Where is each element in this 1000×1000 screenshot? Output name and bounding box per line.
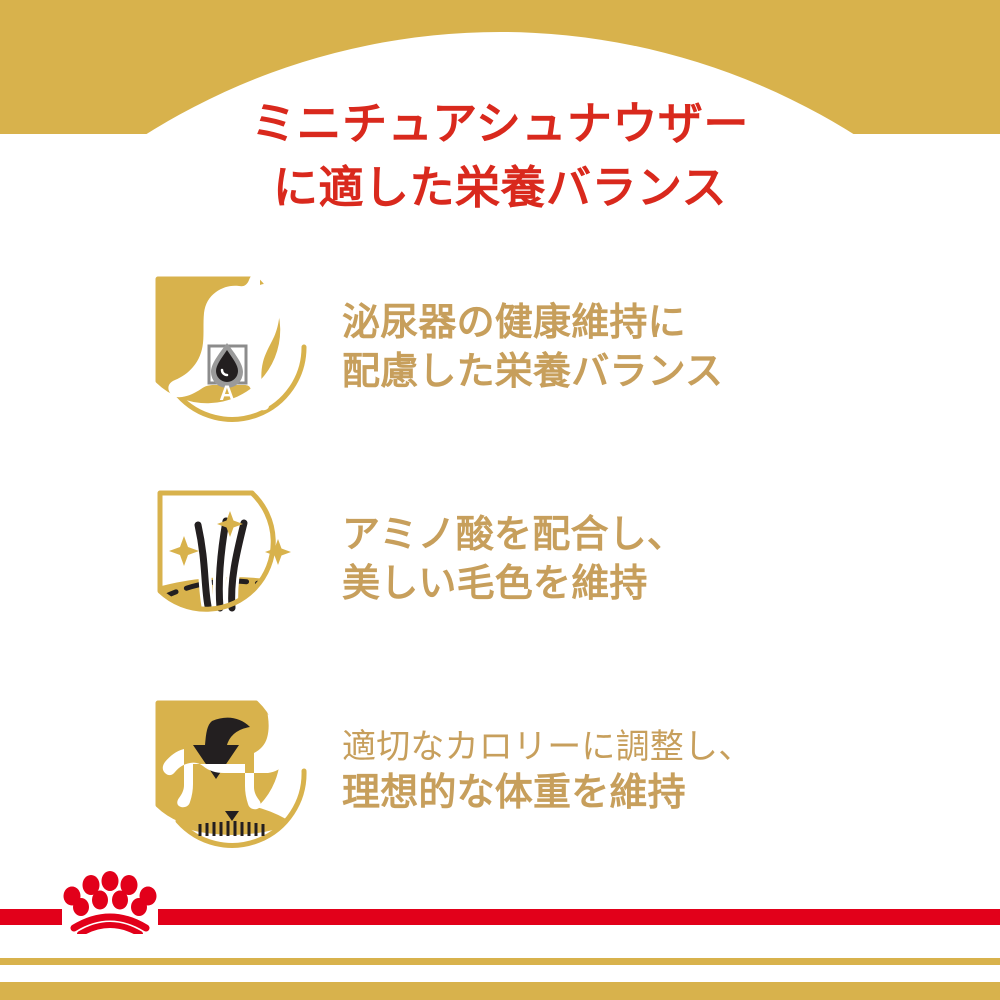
benefit-item-coat-health: アミノ酸を配合し、 美しい毛色を維持: [0, 470, 1000, 650]
royal-canin-crown-logo: [58, 862, 162, 934]
ideal-weight-dog-scale-shield-icon: [148, 693, 316, 851]
benefit-line-1: 適切なカロリーに調整し、: [342, 725, 1000, 769]
benefit-line-2: 配慮した栄養バランス: [342, 348, 1000, 397]
benefit-text-urinary-health: 泌尿器の健康維持に 配慮した栄養バランス: [342, 299, 1000, 398]
benefit-line-1: アミノ酸を配合し、: [342, 511, 1000, 560]
benefit-line-2: 理想的な体重を維持: [342, 769, 1000, 818]
benefit-line-2: 美しい毛色を維持: [342, 560, 1000, 609]
benefit-line-1: 泌尿器の健康維持に: [342, 299, 1000, 348]
urinary-health-dog-shield-icon: A: [148, 269, 316, 427]
benefit-item-urinary-health: A 泌尿器の健康維持に 配慮した栄養バランス: [0, 258, 1000, 438]
product-benefits-panel: ミニチュアシュナウザー に適した栄養バランス: [0, 0, 1000, 1000]
benefit-text-ideal-weight: 適切なカロリーに調整し、 理想的な体重を維持: [342, 725, 1000, 819]
coat-health-hair-shield-icon: [148, 481, 316, 639]
page-title-line-1: ミニチュアシュナウザー: [0, 92, 1000, 156]
footer-gold-rule-thick: [0, 982, 1000, 1000]
benefit-text-coat-health: アミノ酸を配合し、 美しい毛色を維持: [342, 511, 1000, 610]
benefit-list: A 泌尿器の健康維持に 配慮した栄養バランス: [0, 258, 1000, 862]
svg-text:A: A: [219, 382, 234, 405]
footer-gold-rule-thin: [0, 958, 1000, 965]
page-title-line-2: に適した栄養バランス: [0, 156, 1000, 220]
page-title: ミニチュアシュナウザー に適した栄養バランス: [0, 92, 1000, 220]
benefit-item-ideal-weight: 適切なカロリーに調整し、 理想的な体重を維持: [0, 682, 1000, 862]
brand-footer: [0, 890, 1000, 1000]
